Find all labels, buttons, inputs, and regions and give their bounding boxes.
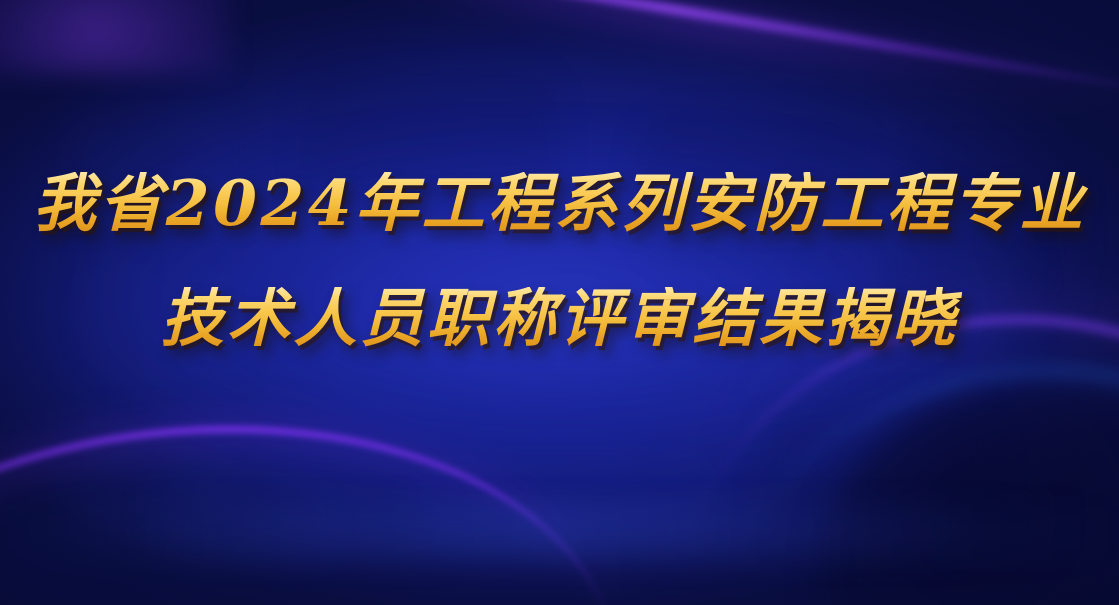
banner-canvas: 我省2024年工程系列安防工程专业 技术人员职称评审结果揭晓 bbox=[0, 0, 1119, 605]
headline: 我省2024年工程系列安防工程专业 技术人员职称评审结果揭晓 bbox=[0, 172, 1119, 350]
headline-line-1: 我省2024年工程系列安防工程专业 bbox=[0, 172, 1119, 235]
headline-line-2: 技术人员职称评审结果揭晓 bbox=[0, 287, 1119, 350]
